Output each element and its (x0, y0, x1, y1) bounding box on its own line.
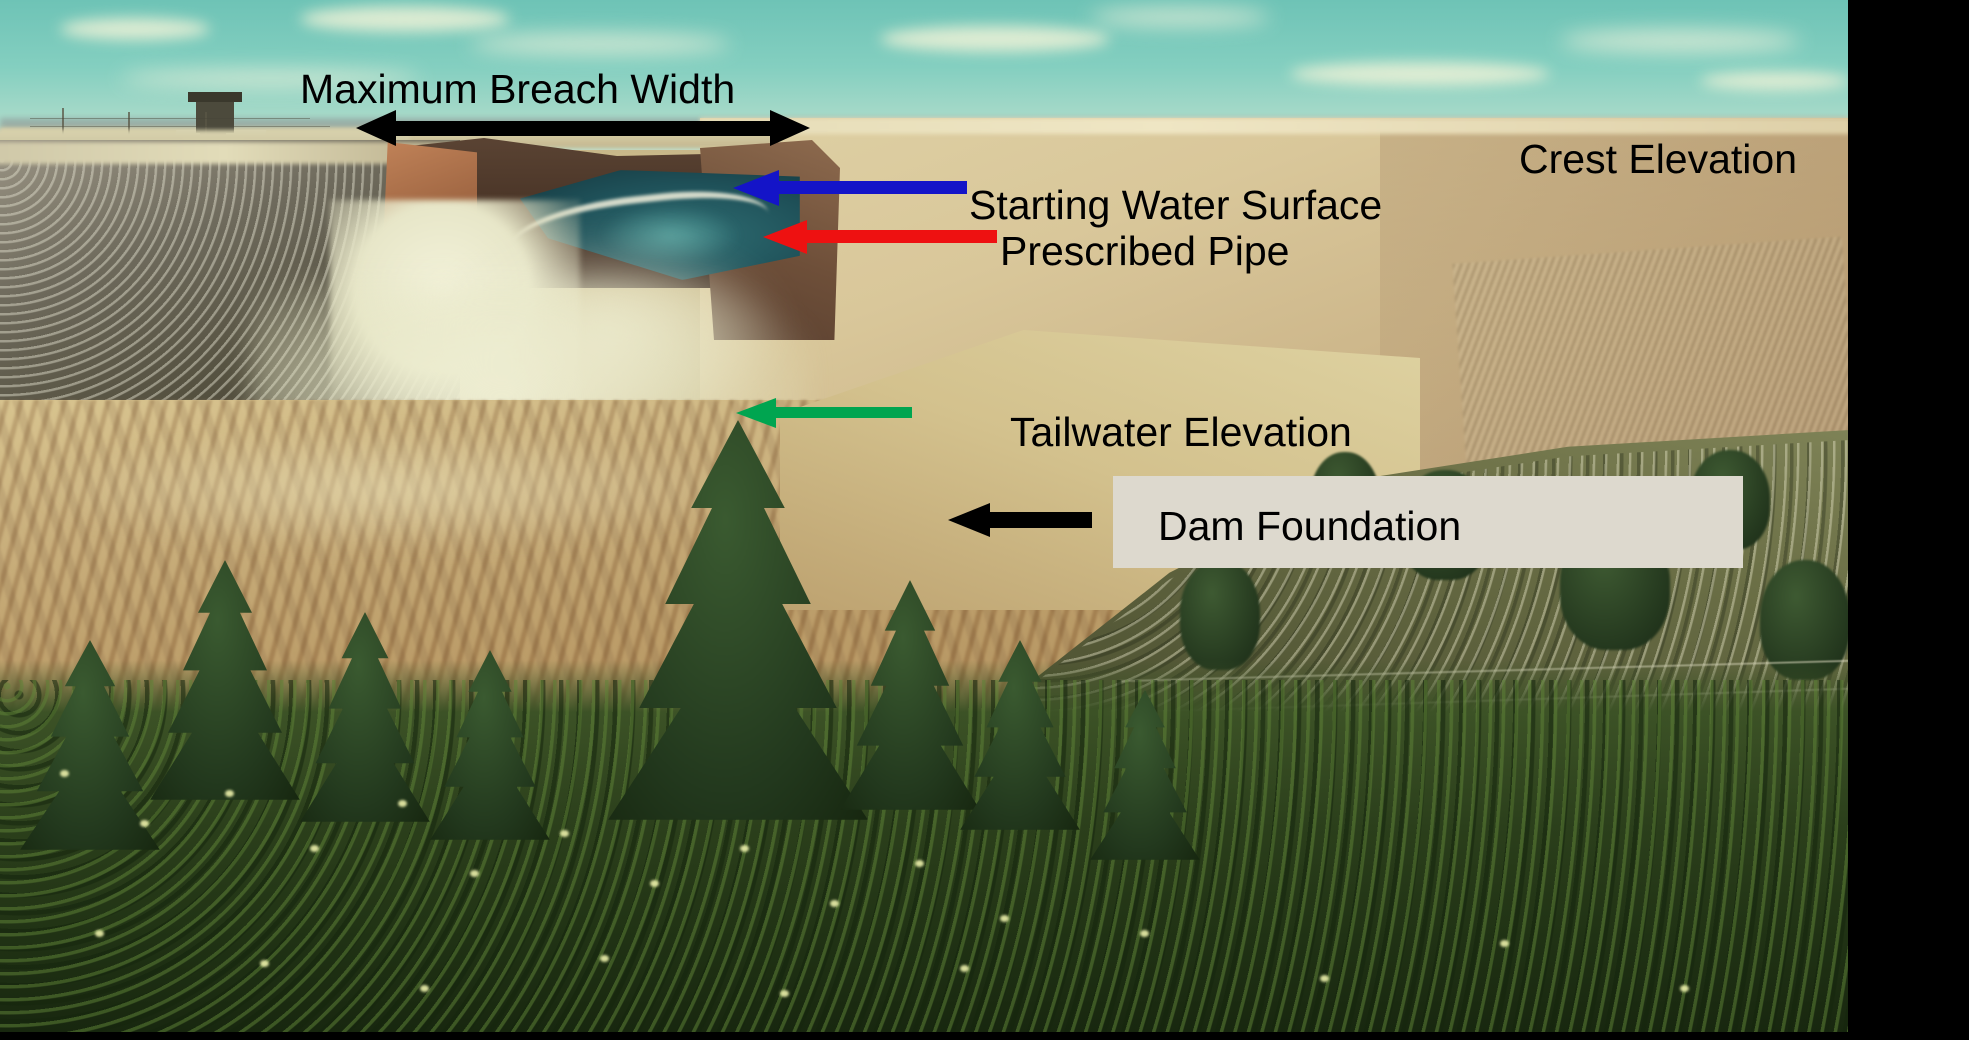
blossom (960, 965, 969, 972)
blossom (1500, 940, 1509, 947)
label-crest-elevation: Crest Elevation (1519, 136, 1797, 183)
letterbox-bar-right (1848, 0, 1969, 1040)
label-dam-foundation: Dam Foundation (1158, 503, 1461, 550)
label-prescribed-pipe: Prescribed Pipe (1000, 228, 1289, 275)
cloud (470, 34, 730, 54)
blossom (1000, 915, 1009, 922)
blossom (398, 800, 407, 807)
power-line (30, 126, 330, 127)
blossom (470, 870, 479, 877)
cloud (1700, 72, 1848, 90)
dam-breach-photograph: Maximum Breach Width Crest Elevation Sta… (0, 0, 1848, 1032)
blossom (140, 820, 149, 827)
blossom (560, 830, 569, 837)
label-tailwater-elevation: Tailwater Elevation (1010, 409, 1352, 456)
cloud (1560, 30, 1800, 52)
cloud (300, 6, 510, 32)
blossom (780, 990, 789, 997)
blossom (225, 790, 234, 797)
blossom (650, 880, 659, 887)
screenshot-canvas: Maximum Breach Width Crest Elevation Sta… (0, 0, 1969, 1040)
cloud (60, 18, 210, 40)
starting-water-surface-arrow (725, 162, 975, 214)
cloud (880, 26, 1110, 52)
blossom (310, 845, 319, 852)
label-maximum-breach-width: Maximum Breach Width (300, 66, 735, 113)
letterbox-bar-bottom (0, 1032, 1969, 1040)
blossom (830, 900, 839, 907)
blossom (95, 930, 104, 937)
blossom (260, 960, 269, 967)
flood-highlight (40, 430, 740, 550)
gate-tower-deck (188, 92, 242, 102)
blossom (1680, 985, 1689, 992)
blossom (60, 770, 69, 777)
power-line (30, 118, 310, 119)
dam-crest (700, 118, 1848, 134)
cloud (1290, 62, 1550, 86)
prescribed-pipe-arrow (755, 212, 1005, 262)
blossom (740, 845, 749, 852)
blossom (1140, 930, 1149, 937)
juniper-tree (1180, 560, 1260, 670)
label-starting-water-surface: Starting Water Surface (969, 182, 1382, 229)
blossom (915, 860, 924, 867)
blossom (600, 955, 609, 962)
tailwater-elevation-arrow (730, 390, 920, 436)
dam-foundation-arrow (940, 496, 1100, 544)
blossom (1320, 975, 1329, 982)
blossom (420, 985, 429, 992)
cloud (1090, 8, 1270, 26)
